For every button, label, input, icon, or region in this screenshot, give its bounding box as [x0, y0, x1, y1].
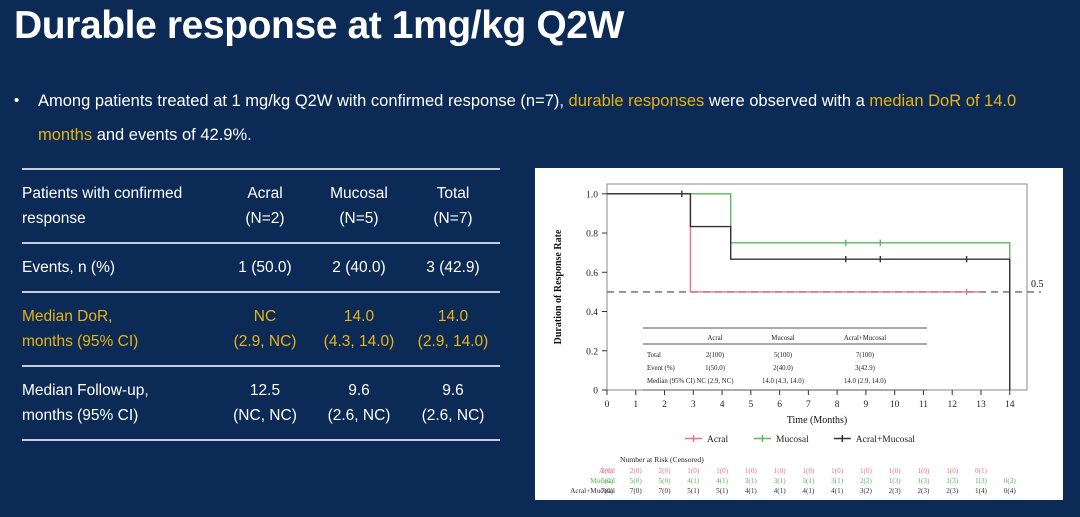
- risk-value: 1(0): [831, 467, 844, 475]
- median-dor-total-ci: (2.9, 14.0): [406, 329, 500, 365]
- events-mucosal: 2 (40.0): [312, 244, 406, 280]
- header-col-total: Total: [406, 170, 500, 206]
- bullet-paragraph: • Among patients treated at 1 mg/kg Q2W …: [14, 84, 1069, 152]
- risk-value: 1(0): [802, 467, 815, 475]
- risk-value: 4(1): [831, 487, 844, 495]
- x-axis-tick-label: 4: [720, 400, 725, 410]
- inset-table-cell: 5(100): [774, 352, 792, 359]
- y-axis-title: Duration of Response Rate: [553, 229, 564, 344]
- risk-value: 2(0): [659, 467, 672, 475]
- header-col-acral-n: (N=2): [218, 206, 312, 242]
- table-row-median-followup-line2: months (95% CI) (NC, NC) (2.6, NC) (2.6,…: [22, 403, 500, 439]
- row-label-events-line2: [22, 280, 218, 291]
- events-acral: 1 (50.0): [218, 244, 312, 280]
- inset-table-cell: Median (95% CI): [647, 378, 695, 385]
- x-axis-tick-label: 2: [662, 400, 667, 410]
- bullet-marker: •: [14, 84, 19, 118]
- table-row-events-line1: Events, n (%) 1 (50.0) 2 (40.0) 3 (42.9): [22, 244, 500, 280]
- reference-line-label: 0.5: [1031, 279, 1044, 290]
- median-followup-acral-ci: (NC, NC): [218, 403, 312, 439]
- risk-value: 0(1): [975, 467, 988, 475]
- risk-value: 1(0): [860, 467, 873, 475]
- risk-value: 5(0): [601, 477, 614, 485]
- table-row-median-followup-line1: Median Follow-up, 12.5 9.6 9.6: [22, 367, 500, 403]
- table-rule: [22, 439, 500, 441]
- row-label-events: Events, n (%): [22, 244, 218, 280]
- header-col-mucosal: Mucosal: [312, 170, 406, 206]
- inset-table-header: Acral+Mucosal: [844, 335, 886, 342]
- median-followup-mucosal: 9.6: [312, 367, 406, 403]
- y-axis-tick-label: 0.4: [586, 308, 598, 318]
- risk-value: 7(0): [630, 487, 643, 495]
- table-header-row-line2: response (N=2) (N=5) (N=7): [22, 206, 500, 242]
- table-row-median-dor-line2: months (95% CI) (2.9, NC) (4.3, 14.0) (2…: [22, 329, 500, 365]
- header-col-total-n: (N=7): [406, 206, 500, 242]
- slide: Durable response at 1mg/kg Q2W • Among p…: [0, 0, 1080, 517]
- x-axis-tick-label: 6: [777, 400, 782, 410]
- events-total: 3 (42.9): [406, 244, 500, 280]
- table-row-events-line2: [22, 280, 500, 291]
- inset-table-cell: 2(100): [706, 352, 724, 359]
- risk-value: 1(3): [975, 477, 988, 485]
- legend-label-acral: Acral: [707, 435, 728, 445]
- median-dor-mucosal: 14.0: [312, 293, 406, 329]
- inset-table-cell: Total: [647, 352, 661, 359]
- risk-value: 4(1): [716, 477, 729, 485]
- x-axis-tick-label: 7: [806, 400, 811, 410]
- risk-value: 5(0): [630, 477, 643, 485]
- risk-value: 1(3): [917, 477, 930, 485]
- risk-value: 1(0): [946, 467, 959, 475]
- risk-value: 5(1): [716, 487, 729, 495]
- risk-value: 0(3): [1004, 477, 1017, 485]
- risk-value: 1(0): [716, 467, 729, 475]
- inset-table-cell: 3(42.9): [855, 365, 875, 372]
- risk-value: 7(0): [659, 487, 672, 495]
- legend-label-acral-mucosal: Acral+Mucosal: [856, 435, 916, 445]
- inset-table-cell: 1(50.0): [705, 365, 725, 372]
- risk-value: 3(1): [774, 477, 787, 485]
- x-axis-tick-label: 10: [890, 400, 900, 410]
- bullet-segment-1: Among patients treated at 1 mg/kg Q2W wi…: [38, 92, 569, 110]
- page-title: Durable response at 1mg/kg Q2W: [14, 4, 624, 48]
- risk-value: 1(3): [946, 477, 959, 485]
- y-axis-tick-label: 0: [593, 387, 598, 397]
- risk-value: 4(1): [745, 487, 758, 495]
- bullet-segment-5: and events of 42.9%.: [92, 126, 252, 144]
- x-axis-title: Time (Months): [787, 415, 847, 426]
- y-axis-tick-label: 0.2: [586, 347, 598, 357]
- x-axis-tick-label: 13: [976, 400, 986, 410]
- risk-value: 4(1): [774, 487, 787, 495]
- y-axis-tick-label: 0.6: [586, 269, 598, 279]
- x-axis-tick-label: 14: [1005, 400, 1015, 410]
- risk-value: 4(1): [687, 477, 700, 485]
- risk-value: 1(0): [774, 467, 787, 475]
- bullet-text: Among patients treated at 1 mg/kg Q2W wi…: [38, 84, 1069, 152]
- risk-table-title: Number at Risk (Censored): [620, 455, 704, 464]
- risk-value: 1(0): [917, 467, 930, 475]
- header-label-line1: Patients with confirmed: [22, 170, 218, 206]
- risk-value: 7(0): [601, 487, 614, 495]
- inset-table-cell: Event (%): [647, 365, 675, 372]
- events-mucosal-line2: [312, 280, 406, 291]
- x-axis-tick-label: 1: [633, 400, 638, 410]
- table-row-median-dor-line1: Median DoR, NC 14.0 14.0: [22, 293, 500, 329]
- inset-table-header: Mucosal: [771, 335, 795, 342]
- plot-frame: [607, 184, 1027, 390]
- bullet-segment-3: were observed with a: [704, 92, 869, 110]
- risk-value: 2(2): [860, 477, 873, 485]
- legend-label-mucosal: Mucosal: [776, 435, 809, 445]
- row-label-median-followup-ci: months (95% CI): [22, 403, 218, 439]
- median-followup-acral: 12.5: [218, 367, 312, 403]
- row-label-median-dor-ci: months (95% CI): [22, 329, 218, 365]
- row-label-median-dor: Median DoR,: [22, 293, 218, 329]
- bullet-highlight-durable-responses: durable responses: [569, 92, 705, 110]
- x-axis-tick-label: 3: [691, 400, 696, 410]
- median-dor-acral-ci: (2.9, NC): [218, 329, 312, 365]
- header-col-acral: Acral: [218, 170, 312, 206]
- risk-value: 1(0): [745, 467, 758, 475]
- inset-table-header: Acral: [707, 335, 722, 342]
- header-col-mucosal-n: (N=5): [312, 206, 406, 242]
- median-followup-mucosal-ci: (2.6, NC): [312, 403, 406, 439]
- median-dor-total: 14.0: [406, 293, 500, 329]
- x-axis-tick-label: 5: [748, 400, 753, 410]
- median-dor-acral: NC: [218, 293, 312, 329]
- table-header-row-line1: Patients with confirmed Acral Mucosal To…: [22, 170, 500, 206]
- median-followup-total-ci: (2.6, NC): [406, 403, 500, 439]
- y-axis-tick-label: 1.0: [586, 190, 598, 200]
- risk-value: 3(1): [831, 477, 844, 485]
- response-summary-table: Patients with confirmed Acral Mucosal To…: [22, 168, 500, 441]
- row-label-median-followup: Median Follow-up,: [22, 367, 218, 403]
- risk-value: 5(0): [659, 477, 672, 485]
- risk-value: 2(3): [917, 487, 930, 495]
- median-dor-mucosal-ci: (4.3, 14.0): [312, 329, 406, 365]
- risk-value: 3(1): [745, 477, 758, 485]
- y-axis-tick-label: 0.8: [586, 230, 598, 240]
- kaplan-meier-chart-panel: 00.20.40.60.81.0Duration of Response Rat…: [535, 168, 1063, 500]
- risk-value: 0(4): [1004, 487, 1017, 495]
- risk-value: 2(0): [630, 467, 643, 475]
- risk-value: 1(0): [687, 467, 700, 475]
- kaplan-meier-chart: 00.20.40.60.81.0Duration of Response Rat…: [535, 168, 1063, 500]
- risk-value: 3(2): [860, 487, 873, 495]
- risk-value: 2(0): [601, 467, 614, 475]
- table-bottom-rule-row: [22, 439, 500, 441]
- risk-value: 1(3): [889, 477, 902, 485]
- x-axis-tick-label: 8: [835, 400, 840, 410]
- inset-table-cell: 14.0 (2.9, 14.0): [844, 378, 886, 385]
- events-total-line2: [406, 280, 500, 291]
- risk-value: 3(1): [802, 477, 815, 485]
- header-label-line2: response: [22, 206, 218, 242]
- risk-value: 2(3): [946, 487, 959, 495]
- inset-table-cell: NC (2.9, NC): [696, 378, 733, 385]
- risk-value: 1(4): [975, 487, 988, 495]
- risk-value: 1(0): [889, 467, 902, 475]
- risk-value: 2(3): [889, 487, 902, 495]
- inset-table-cell: 7(100): [856, 352, 874, 359]
- x-axis-tick-label: 9: [864, 400, 869, 410]
- median-followup-total: 9.6: [406, 367, 500, 403]
- risk-value: 5(1): [687, 487, 700, 495]
- x-axis-tick-label: 11: [919, 400, 928, 410]
- x-axis-tick-label: 12: [947, 400, 957, 410]
- risk-value: 4(1): [802, 487, 815, 495]
- x-axis-tick-label: 0: [605, 400, 610, 410]
- events-acral-line2: [218, 280, 312, 291]
- inset-table-cell: 14.0 (4.3, 14.0): [762, 378, 804, 385]
- inset-table-cell: 2(40.0): [773, 365, 793, 372]
